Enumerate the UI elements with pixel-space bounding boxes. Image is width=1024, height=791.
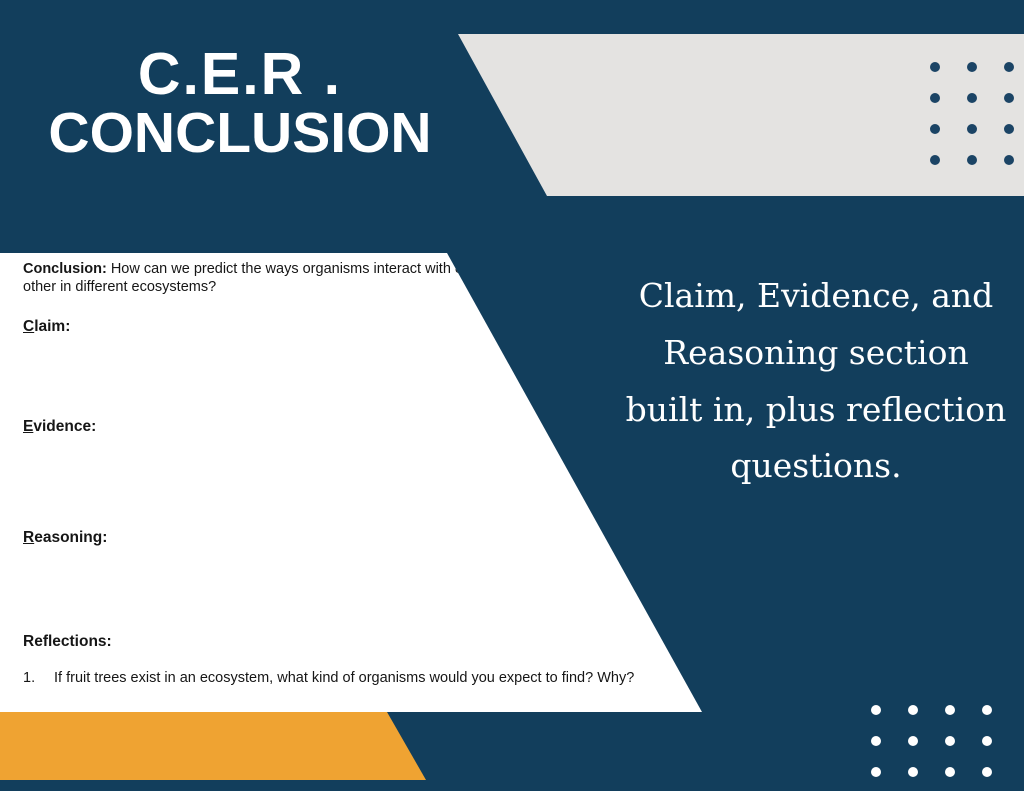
dot: [982, 736, 992, 746]
dot: [967, 62, 977, 72]
reasoning-answer-space: [23, 548, 683, 633]
top-dot-grid: [930, 62, 1024, 186]
dot: [967, 155, 977, 165]
claim-answer-space: [23, 337, 683, 418]
dot: [930, 124, 940, 134]
dot: [930, 93, 940, 103]
claim-initial: C: [23, 318, 34, 335]
bottom-orange-banner: [0, 712, 426, 780]
dot: [908, 705, 918, 715]
worksheet-preview: Conclusion: How can we predict the ways …: [0, 253, 702, 712]
list-item: 1. If fruit trees exist in an ecosystem,…: [23, 669, 683, 687]
dot: [930, 155, 940, 165]
dot: [945, 705, 955, 715]
dot: [945, 767, 955, 777]
evidence-answer-space: [23, 437, 683, 529]
worksheet-question-label: Conclusion:: [23, 261, 107, 277]
dot: [1004, 124, 1014, 134]
dot: [945, 736, 955, 746]
worksheet-content: Conclusion: How can we predict the ways …: [23, 261, 683, 687]
slide-title: C.E.R . CONCLUSION: [0, 44, 480, 162]
worksheet-claim-label: Claim:: [23, 318, 683, 337]
list-item-number: 1.: [23, 669, 54, 687]
list-item-text: If fruit trees exist in an ecosystem, wh…: [54, 669, 634, 687]
dot: [967, 93, 977, 103]
caption-text: Claim, Evidence, and Reasoning section b…: [620, 268, 1012, 495]
dot: [967, 124, 977, 134]
dot: [871, 767, 881, 777]
dot: [1004, 62, 1014, 72]
title-line-two: CONCLUSION: [0, 104, 480, 162]
dot: [871, 736, 881, 746]
slide-canvas: C.E.R . CONCLUSION Conclusion: How can w…: [0, 0, 1024, 791]
claim-rest: laim:: [34, 318, 70, 335]
worksheet-reflections-list: 1. If fruit trees exist in an ecosystem,…: [23, 669, 683, 687]
dot: [930, 62, 940, 72]
evidence-initial: E: [23, 418, 33, 435]
dot: [1004, 155, 1014, 165]
worksheet-reflections-title: Reflections:: [23, 633, 683, 652]
title-line-one: C.E.R .: [0, 44, 480, 104]
worksheet-question: Conclusion: How can we predict the ways …: [23, 261, 493, 296]
worksheet-reasoning-label: Reasoning:: [23, 529, 683, 548]
reasoning-rest: easoning:: [34, 529, 107, 546]
bottom-dot-grid: [871, 705, 1019, 791]
reasoning-initial: R: [23, 529, 34, 546]
dot: [982, 767, 992, 777]
dot: [871, 705, 881, 715]
dot: [982, 705, 992, 715]
dot: [1004, 93, 1014, 103]
dot: [908, 736, 918, 746]
dot: [908, 767, 918, 777]
evidence-rest: vidence:: [33, 418, 96, 435]
worksheet-evidence-label: Evidence:: [23, 418, 683, 437]
